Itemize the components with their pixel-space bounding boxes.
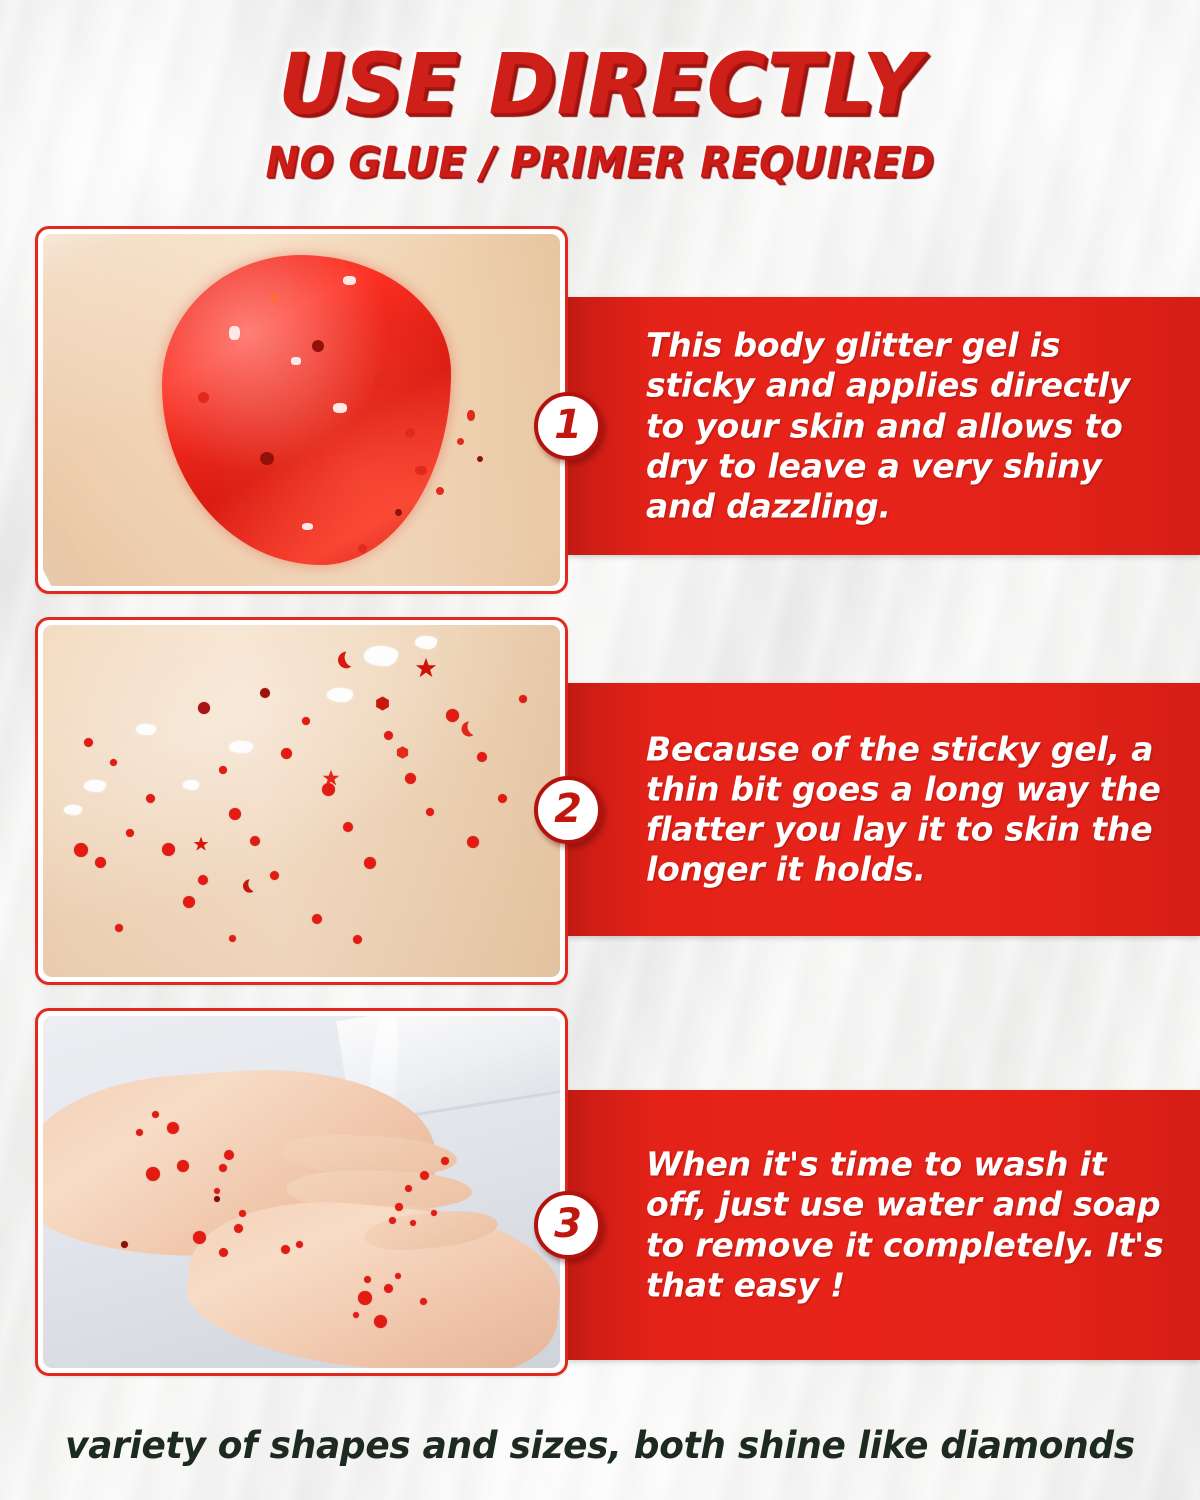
glitter-dot [302,717,310,725]
moon-glitter-icon [239,878,255,894]
glitter-flake [302,523,313,530]
glitter-dot [498,794,507,803]
glitter-dot [477,752,487,762]
hexagon-glitter-icon [395,745,410,760]
glitter-dot [281,1245,290,1254]
step-photo-frame-2 [35,617,568,985]
glitter-dot [353,935,362,944]
glitter-dot [405,1185,412,1192]
glitter-dot [152,1111,159,1118]
moon-glitter-icon [457,720,475,738]
glitter-flake [312,340,324,352]
glitter-dot [343,822,353,832]
glitter-dot [183,896,195,908]
step-text-panel-2: 2 Because of the sticky gel, a thin bit … [568,683,1200,936]
glitter-flake [374,375,387,388]
header: USE DIRECTLY NO GLUE / PRIMER REQUIRED [0,42,1200,185]
step-photo-3 [43,1016,560,1368]
step-number-label: 3 [554,1204,582,1244]
step-number-badge-2: 2 [534,776,602,844]
step-description-3: When it's time to wash it off, just use … [646,1145,1172,1306]
infographic-page: USE DIRECTLY NO GLUE / PRIMER REQUIRED [0,0,1200,1500]
glitter-flake [415,636,437,649]
glitter-dot [224,1150,234,1160]
moon-glitter-icon [333,650,353,670]
step-text-panel-3: 3 When it's time to wash it off, just us… [568,1090,1200,1360]
glitter-dot [389,1217,396,1224]
step-description-1: This body glitter gel is sticky and appl… [646,325,1172,526]
glitter-dot [110,759,117,766]
glitter-flake [291,357,301,365]
glitter-dot [395,1203,403,1211]
glitter-flake [183,780,199,790]
glitter-dot [281,748,292,759]
step-number-badge-3: 3 [534,1191,602,1259]
star-glitter-icon [415,657,437,679]
glitter-dot [126,829,134,837]
glitter-dot [250,836,260,846]
step-description-2: Because of the sticky gel, a thin bit go… [646,729,1172,890]
glitter-flake [405,428,415,438]
glitter-dot [353,1312,359,1318]
glitter-dot [358,1291,372,1305]
glitter-dot [198,875,208,885]
glitter-dot [219,766,227,774]
glitter-dot [364,857,376,869]
glitter-dot [312,914,322,924]
step-text-panel-1: 1 This body glitter gel is sticky and ap… [568,297,1200,555]
glitter-dot [193,1231,206,1244]
glitter-flake [457,438,464,445]
star-glitter-icon [193,836,209,852]
hexagon-glitter-icon [374,695,391,712]
glitter-dot [229,935,236,942]
star-glitter-icon [322,769,340,787]
glitter-dot [167,1122,179,1134]
glitter-dot [405,773,416,784]
glitter-dot [431,1210,437,1216]
glitter-dot [214,1196,220,1202]
glitter-flake [64,805,82,815]
step-photo-2 [43,625,560,977]
glitter-dot [234,1224,243,1233]
step-number-label: 1 [554,405,582,445]
glitter-dot [374,1315,387,1328]
bottom-caption: variety of shapes and sizes, both shine … [18,1424,1182,1467]
step-photo-1 [43,234,560,586]
glitter-dot [395,1273,401,1279]
page-subtitle: NO GLUE / PRIMER REQUIRED [42,142,1158,185]
step-number-label: 2 [554,789,582,829]
glitter-flake [467,410,475,421]
step-photo-frame-1 [35,226,568,594]
glitter-dot [121,1241,128,1248]
glitter-dot [420,1298,427,1305]
glitter-flake [136,724,156,735]
glitter-flake [229,326,240,340]
glitter-flake [229,741,253,753]
glitter-dot [219,1164,227,1172]
glitter-dot [441,1157,449,1165]
glitter-flake [343,276,356,285]
page-title: USE DIRECTLY [24,42,1176,126]
glitter-flake [477,456,483,462]
glitter-dot [84,738,93,747]
glitter-flake [395,509,402,516]
glitter-dot [136,1129,143,1136]
glitter-flake [84,780,106,792]
glitter-flake [333,403,347,413]
glitter-dot [426,808,434,816]
glitter-dot [384,1284,393,1293]
step-number-badge-1: 1 [534,392,602,460]
glitter-dot [384,731,393,740]
glitter-flake [239,502,249,512]
glitter-dot [95,857,106,868]
step-photo-frame-3 [35,1008,568,1376]
